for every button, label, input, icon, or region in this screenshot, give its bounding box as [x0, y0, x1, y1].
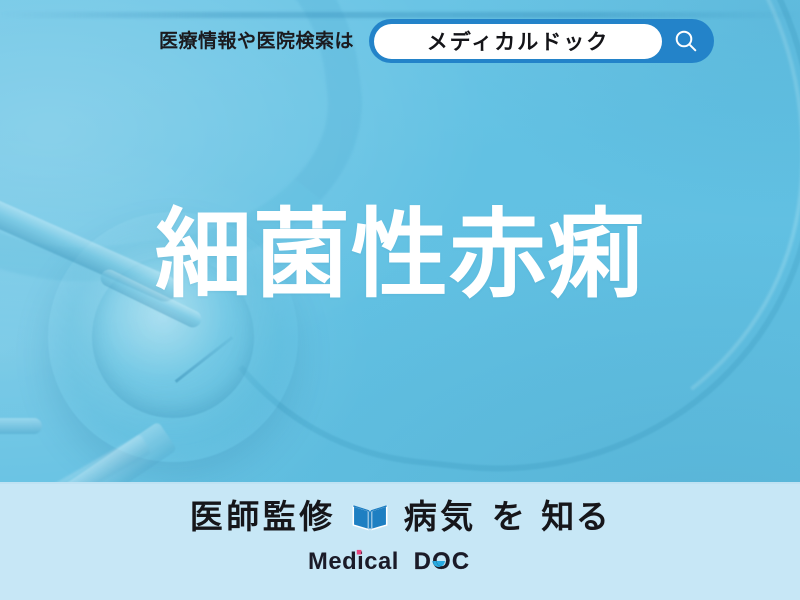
logo-text-medical: Medical — [308, 548, 399, 575]
search-bar[interactable]: メディカルドック — [369, 19, 714, 63]
medical-doc-banner: 医療情報や医院検索は メディカルドック 細菌性赤痢 医師監修 病気 を — [0, 0, 800, 600]
footer-tagline-row: 医師監修 病気 を 知る — [0, 500, 800, 533]
supervision-label: 医師監修 — [190, 500, 336, 533]
brand-logo[interactable]: Medical DOC DOC — [0, 546, 800, 576]
tagline-verb: 知る — [541, 500, 610, 533]
page-title: 細菌性赤痢 — [155, 206, 645, 303]
footer-bar: 医師監修 病気 を 知る Medical DOC DOC — [0, 482, 800, 600]
search-input[interactable]: メディカルドック — [374, 24, 662, 59]
search-icon — [673, 28, 699, 54]
search-lead-text: 医療情報や医院検索は — [159, 32, 354, 51]
background-top-highlight-band — [0, 12, 800, 18]
tagline-particle: を — [492, 500, 527, 533]
search-header: 医療情報や医院検索は メディカルドック — [0, 19, 800, 63]
search-button[interactable] — [662, 19, 710, 63]
logo-i-dot-icon — [356, 550, 361, 555]
logo-text-doc-overlay: DOC — [413, 548, 470, 575]
medical-doc-logo: Medical DOC DOC — [308, 546, 493, 576]
open-book-icon — [351, 502, 389, 532]
tagline-main: 病気 — [404, 500, 477, 533]
